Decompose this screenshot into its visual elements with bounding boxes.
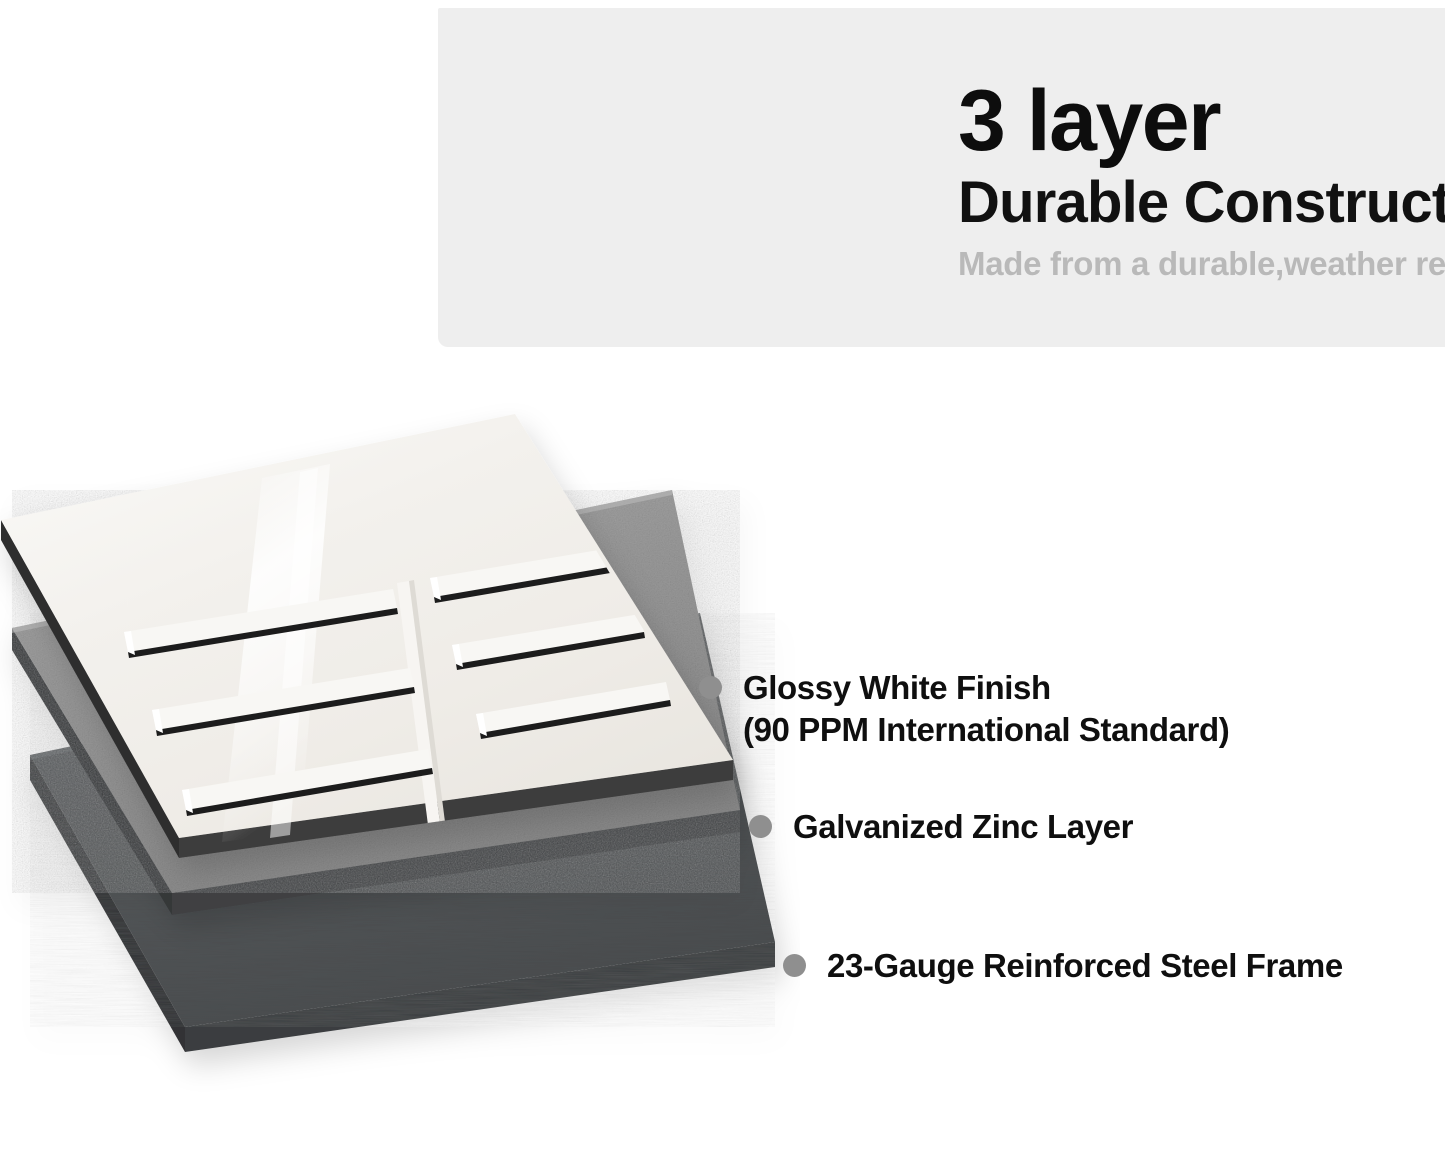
bullet-dot-icon: [699, 676, 722, 699]
feature-list: Glossy White Finish (90 PPM Internationa…: [0, 0, 1445, 1171]
feature-label: Glossy White Finish (90 PPM Internationa…: [743, 667, 1229, 751]
list-item: 23-Gauge Reinforced Steel Frame: [783, 945, 1343, 987]
list-item: Galvanized Zinc Layer: [749, 806, 1133, 848]
bullet-dot-icon: [783, 954, 806, 977]
list-item: Glossy White Finish (90 PPM Internationa…: [699, 667, 1229, 751]
bullet-dot-icon: [749, 815, 772, 838]
feature-label: 23-Gauge Reinforced Steel Frame: [827, 945, 1343, 987]
feature-label: Galvanized Zinc Layer: [793, 806, 1133, 848]
